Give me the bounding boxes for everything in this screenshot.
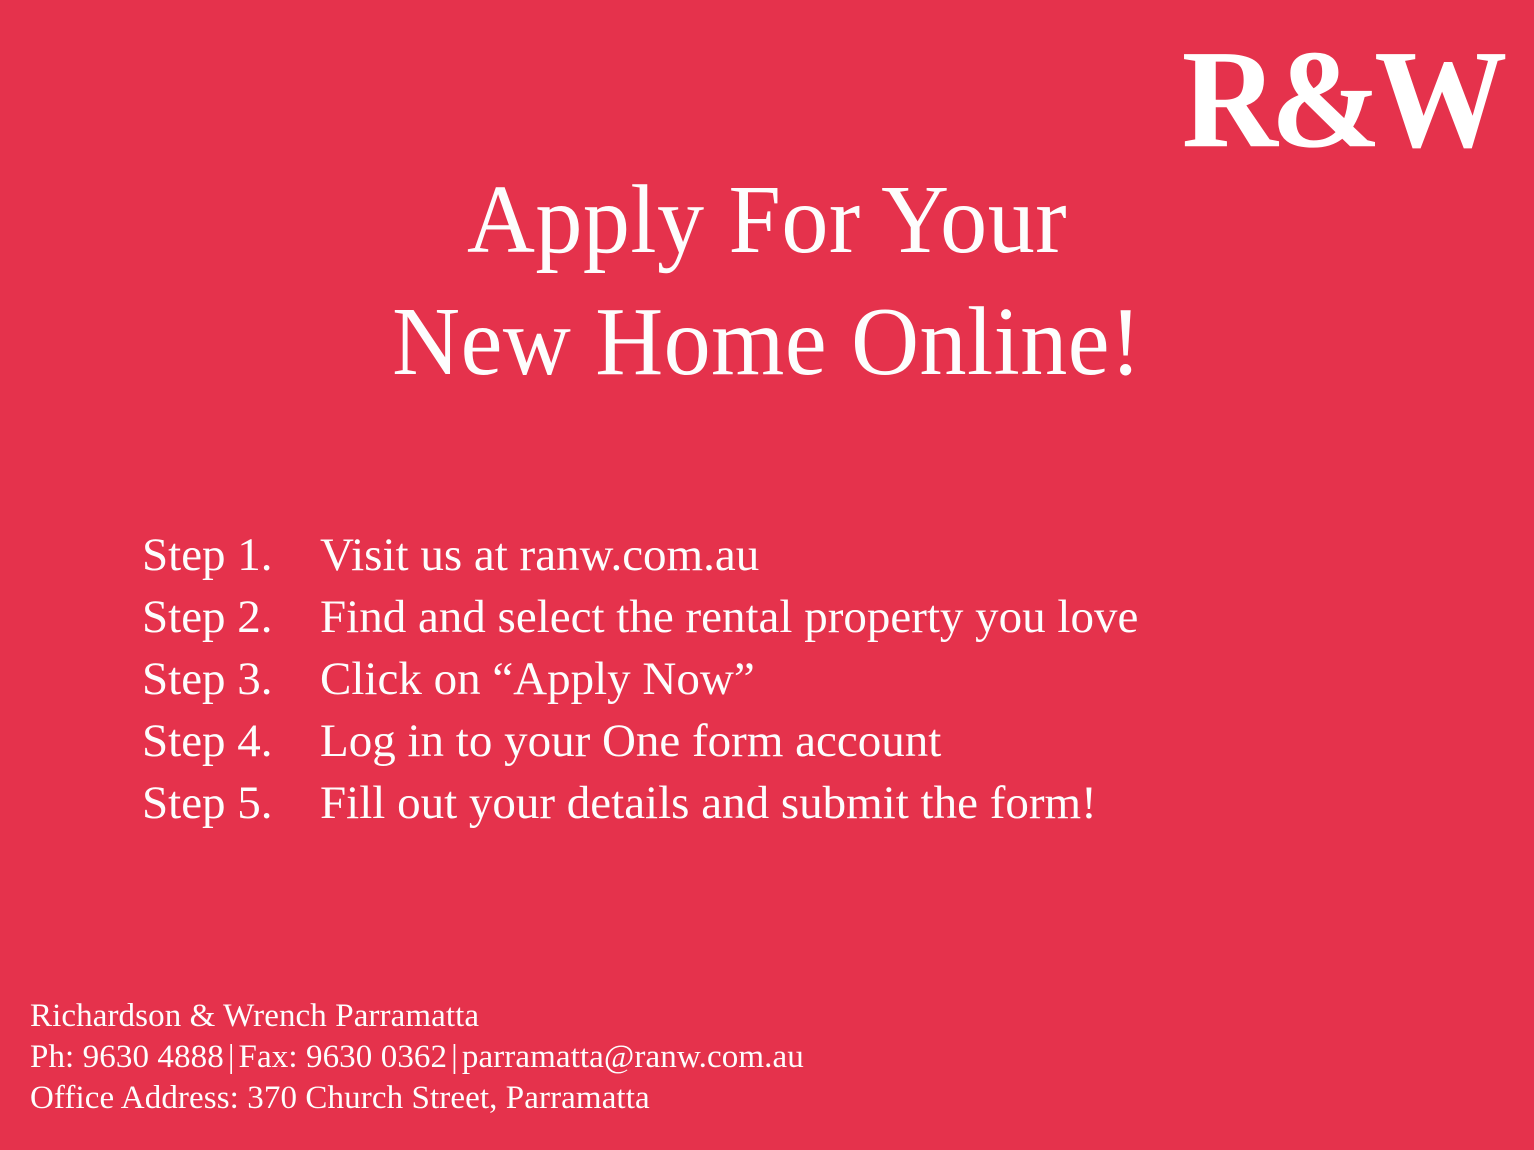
- step-text-1: Visit us at ranw.com.au: [320, 524, 1422, 586]
- contact-footer: Richardson & Wrench Parramatta Ph: 9630 …: [30, 996, 804, 1119]
- step-text-4: Log in to your One form account: [320, 710, 1422, 772]
- page-title-line-2: New Home Online!: [31, 282, 1504, 404]
- step-label-1: Step 1.: [142, 524, 320, 586]
- page-title-line-1: Apply For Your: [31, 160, 1504, 282]
- list-item: Step 1. Visit us at ranw.com.au: [142, 524, 1422, 586]
- steps-list: Step 1. Visit us at ranw.com.au Step 2. …: [142, 524, 1422, 834]
- list-item: Step 3. Click on “Apply Now”: [142, 648, 1422, 710]
- step-label-3: Step 3.: [142, 648, 320, 710]
- footer-fax: Fax: 9630 0362: [239, 1039, 448, 1075]
- footer-phone: Ph: 9630 4888: [30, 1039, 224, 1075]
- step-label-4: Step 4.: [142, 710, 320, 772]
- step-label-2: Step 2.: [142, 586, 320, 648]
- step-text-2: Find and select the rental property you …: [320, 586, 1422, 648]
- footer-address: Office Address: 370 Church Street, Parra…: [30, 1078, 804, 1119]
- footer-separator-2: |: [447, 1039, 462, 1075]
- footer-company-name: Richardson & Wrench Parramatta: [30, 996, 804, 1037]
- step-label-5: Step 5.: [142, 772, 320, 834]
- step-text-3: Click on “Apply Now”: [320, 648, 1422, 710]
- rw-logo: R&W: [1210, 36, 1500, 161]
- list-item: Step 2. Find and select the rental prope…: [142, 586, 1422, 648]
- list-item: Step 4. Log in to your One form account: [142, 710, 1422, 772]
- footer-contact-line: Ph: 9630 4888|Fax: 9630 0362|parramatta@…: [30, 1037, 804, 1078]
- footer-separator-1: |: [224, 1039, 239, 1075]
- footer-email[interactable]: parramatta@ranw.com.au: [462, 1039, 804, 1075]
- step-text-5: Fill out your details and submit the for…: [320, 772, 1422, 834]
- rw-logo-text: R&W: [1182, 28, 1500, 169]
- slide-canvas: R&W Apply For Your New Home Online! Step…: [0, 0, 1534, 1150]
- page-title: Apply For Your New Home Online!: [31, 160, 1504, 403]
- list-item: Step 5. Fill out your details and submit…: [142, 772, 1422, 834]
